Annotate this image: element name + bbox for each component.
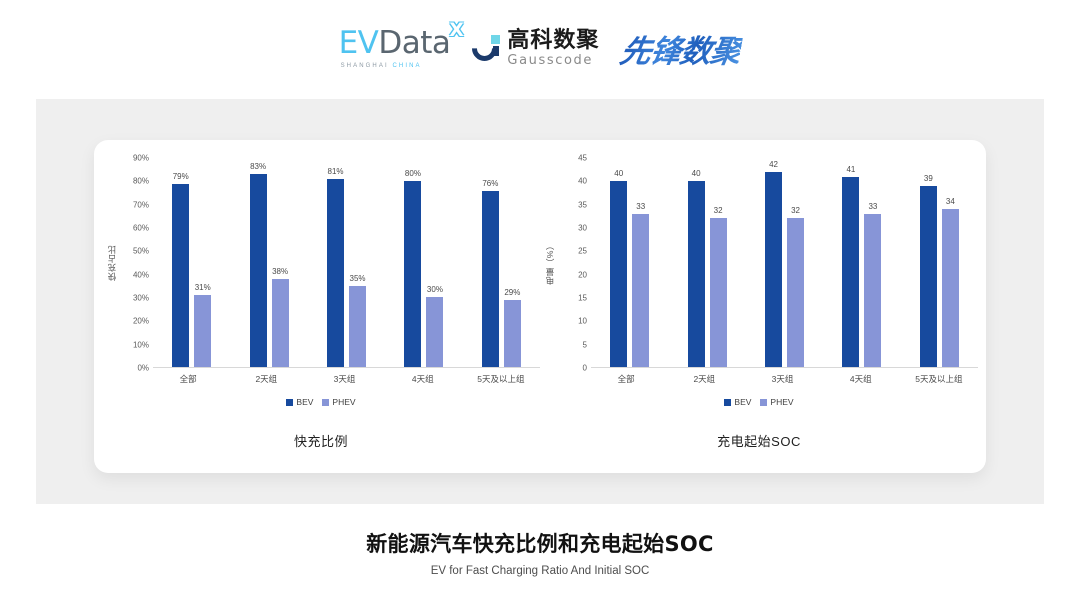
bar-value-label: 31% <box>195 283 211 292</box>
legend-item-bev[interactable]: BEV <box>286 397 313 407</box>
y-tick-label: 10% <box>133 340 149 349</box>
y-tick-label: 35 <box>578 200 587 209</box>
bar-bev[interactable]: 76% <box>482 191 499 367</box>
y-tick-label: 60% <box>133 223 149 232</box>
page-title: 新能源汽车快充比例和充电起始SOC <box>0 528 1080 558</box>
bar-groups-left: 79%31%83%38%81%35%80%30%76%29% <box>153 158 540 367</box>
bar-bev[interactable]: 79% <box>172 184 189 367</box>
gausscode-mark-icon <box>472 34 500 62</box>
gausscode-bar-icon <box>493 46 499 56</box>
bar-bev[interactable]: 40 <box>610 181 627 367</box>
bar-phev[interactable]: 30% <box>426 297 443 367</box>
bar-value-label: 29% <box>504 288 520 297</box>
gausscode-text: 高科数聚 Gausscode <box>507 30 599 67</box>
y-tick-label: 30% <box>133 293 149 302</box>
legend-swatch-icon <box>322 399 329 406</box>
bar-group: 4032 <box>668 158 745 367</box>
x-tick-label: 3天组 <box>305 373 383 385</box>
y-tick-label: 10 <box>578 317 587 326</box>
x-tick-label: 4天组 <box>384 373 462 385</box>
bar-group: 83%38% <box>230 158 307 367</box>
y-tick-label: 80% <box>133 177 149 186</box>
bar-phev[interactable]: 33 <box>864 214 881 367</box>
legend-left: BEVPHEV <box>102 397 540 407</box>
bar-bev[interactable]: 80% <box>404 181 421 367</box>
bar-value-label: 32 <box>714 206 723 215</box>
legend-label: BEV <box>734 397 751 407</box>
evdata-data-text: Data <box>378 25 450 61</box>
chart-caption-right: 充电起始SOC <box>540 431 978 450</box>
y-tick-label: 45 <box>578 154 587 163</box>
bar-bev[interactable]: 42 <box>765 172 782 367</box>
bar-group: 81%35% <box>308 158 385 367</box>
legend-item-phev[interactable]: PHEV <box>760 397 793 407</box>
bar-value-label: 42 <box>769 160 778 169</box>
y-tick-label: 40% <box>133 270 149 279</box>
legend-label: PHEV <box>332 397 355 407</box>
title-block: 新能源汽车快充比例和充电起始SOC EV for Fast Charging R… <box>0 528 1080 577</box>
evdata-x-icon: X <box>449 21 463 40</box>
evdata-logo: EVDataX SHANGHAI CHINA <box>339 28 451 69</box>
charts-row: 快充占比 90%80%70%60%50%40%30%20%10%0% 79%31… <box>94 140 986 473</box>
y-tick-label: 15 <box>578 293 587 302</box>
bar-bev[interactable]: 40 <box>688 181 705 367</box>
bar-group: 76%29% <box>463 158 540 367</box>
y-tick-label: 25 <box>578 247 587 256</box>
chart-caption-left: 快充比例 <box>102 431 540 450</box>
x-tick-label: 2天组 <box>227 373 305 385</box>
bar-value-label: 35% <box>350 274 366 283</box>
bar-value-label: 34 <box>946 197 955 206</box>
chart-fast-charging-ratio: 快充占比 90%80%70%60%50%40%30%20%10%0% 79%31… <box>102 158 540 463</box>
evdata-tagline: SHANGHAI CHINA <box>341 63 422 69</box>
legend-right: BEVPHEV <box>540 397 978 407</box>
bar-value-label: 40 <box>614 169 623 178</box>
bar-group: 4232 <box>746 158 823 367</box>
bar-group: 4033 <box>591 158 668 367</box>
y-axis-title-left: 快充占比 <box>106 245 118 281</box>
y-axis-title-right: 电量（%） <box>544 241 556 285</box>
bar-phev[interactable]: 34 <box>942 209 959 367</box>
gausscode-cn-name: 高科数聚 <box>507 30 599 52</box>
bar-value-label: 32 <box>791 206 800 215</box>
bar-phev[interactable]: 35% <box>349 286 366 367</box>
y-tick-label: 20 <box>578 270 587 279</box>
gausscode-square-icon <box>491 35 500 44</box>
bar-group: 79%31% <box>153 158 230 367</box>
bar-groups-right: 40334032423241333934 <box>591 158 978 367</box>
evdata-tagline-country: CHINA <box>392 63 421 69</box>
y-tick-label: 40 <box>578 177 587 186</box>
x-tick-label: 2天组 <box>665 373 743 385</box>
bar-group: 3934 <box>901 158 978 367</box>
bar-phev[interactable]: 38% <box>272 279 289 367</box>
legend-swatch-icon <box>724 399 731 406</box>
evdata-wordmark: EVDataX <box>339 28 451 59</box>
y-tick-label: 70% <box>133 200 149 209</box>
bar-value-label: 79% <box>173 172 189 181</box>
legend-swatch-icon <box>760 399 767 406</box>
legend-label: PHEV <box>770 397 793 407</box>
y-tick-label: 90% <box>133 154 149 163</box>
bar-phev[interactable]: 29% <box>504 300 521 367</box>
y-tick-label: 20% <box>133 317 149 326</box>
chart-card: 快充占比 90%80%70%60%50%40%30%20%10%0% 79%31… <box>94 140 986 473</box>
bar-phev[interactable]: 31% <box>194 295 211 367</box>
plot-wrap-left: 快充占比 90%80%70%60%50%40%30%20%10%0% 79%31… <box>102 158 540 368</box>
bar-bev[interactable]: 81% <box>327 179 344 367</box>
bar-value-label: 83% <box>250 162 266 171</box>
bar-value-label: 81% <box>328 167 344 176</box>
bar-value-label: 41 <box>846 165 855 174</box>
x-tick-label: 5天及以上组 <box>900 373 978 385</box>
bar-bev[interactable]: 83% <box>250 174 267 367</box>
bar-value-label: 39 <box>924 174 933 183</box>
y-tick-label: 30 <box>578 223 587 232</box>
legend-label: BEV <box>296 397 313 407</box>
y-tick-label: 5 <box>583 340 587 349</box>
y-axis-ticks-left: 90%80%70%60%50%40%30%20%10%0% <box>119 158 153 368</box>
bar-group: 80%30% <box>385 158 462 367</box>
bar-phev[interactable]: 32 <box>787 218 804 367</box>
bar-phev[interactable]: 32 <box>710 218 727 367</box>
x-tick-label: 5天及以上组 <box>462 373 540 385</box>
x-tick-label: 4天组 <box>822 373 900 385</box>
x-axis-labels-right: 全部2天组3天组4天组5天及以上组 <box>540 373 978 385</box>
x-tick-label: 全部 <box>587 373 665 385</box>
bar-value-label: 30% <box>427 285 443 294</box>
legend-item-phev[interactable]: PHEV <box>322 397 355 407</box>
y-axis-ticks-right: 454035302520151050 <box>557 158 591 368</box>
chart-initial-soc: 电量（%） 454035302520151050 403340324232413… <box>540 158 978 463</box>
gausscode-logo: 高科数聚 Gausscode <box>472 30 599 67</box>
bar-group: 4133 <box>823 158 900 367</box>
bar-bev[interactable]: 41 <box>842 177 859 367</box>
plot-area-left: 79%31%83%38%81%35%80%30%76%29% <box>153 158 540 368</box>
xianfeng-logo: 先锋数聚 <box>617 26 745 71</box>
y-tick-label: 50% <box>133 247 149 256</box>
bar-phev[interactable]: 33 <box>632 214 649 367</box>
logo-header: EVDataX SHANGHAI CHINA 高科数聚 Gausscode 先锋… <box>0 0 1080 96</box>
bar-value-label: 33 <box>868 202 877 211</box>
bar-bev[interactable]: 39 <box>920 186 937 367</box>
plot-wrap-right: 电量（%） 454035302520151050 403340324232413… <box>540 158 978 368</box>
bar-value-label: 40 <box>692 169 701 178</box>
legend-item-bev[interactable]: BEV <box>724 397 751 407</box>
evdata-ev-text: EV <box>339 25 379 61</box>
plot-area-right: 40334032423241333934 <box>591 158 978 368</box>
bar-value-label: 38% <box>272 267 288 276</box>
x-tick-label: 全部 <box>149 373 227 385</box>
y-tick-label: 0% <box>137 364 149 373</box>
bar-value-label: 33 <box>636 202 645 211</box>
bar-value-label: 76% <box>482 179 498 188</box>
x-tick-label: 3天组 <box>743 373 821 385</box>
gausscode-en-name: Gausscode <box>507 54 599 67</box>
page-subtitle: EV for Fast Charging Ratio And Initial S… <box>0 565 1080 577</box>
x-axis-labels-left: 全部2天组3天组4天组5天及以上组 <box>102 373 540 385</box>
chart-panel-background: 快充占比 90%80%70%60%50%40%30%20%10%0% 79%31… <box>36 99 1044 504</box>
y-tick-label: 0 <box>583 364 587 373</box>
evdata-tagline-city: SHANGHAI <box>341 63 393 69</box>
bar-value-label: 80% <box>405 169 421 178</box>
legend-swatch-icon <box>286 399 293 406</box>
